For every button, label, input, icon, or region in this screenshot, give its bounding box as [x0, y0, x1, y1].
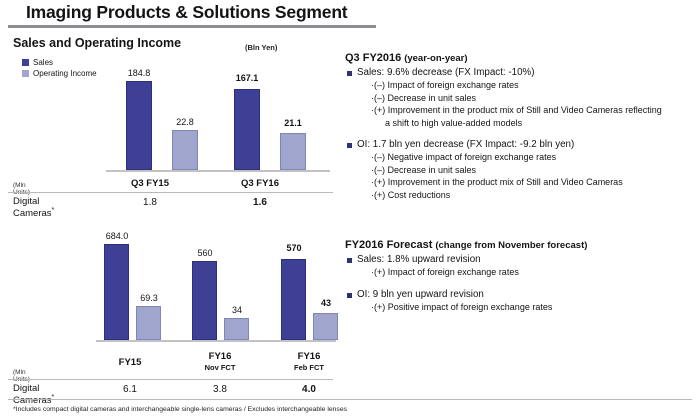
- legend-label-sales: Sales: [33, 58, 53, 67]
- commentary-forecast-sales-text: Sales: 1.8% upward revision: [357, 254, 481, 266]
- commentary-q3-oi-sub-0: ·(–) Negative impact of foreign exchange…: [371, 152, 695, 164]
- spacer: [345, 130, 695, 139]
- table2-row-label: Digital Cameras*: [13, 383, 54, 406]
- chart1-bar-sales-q3fy16: [234, 89, 260, 170]
- legend-label-operating-income: Operating Income: [33, 69, 97, 78]
- commentary-q3-oi-sub-2: ·(+) Improvement in the product mix of S…: [371, 177, 695, 189]
- commentary-block-q3: Q3 FY2016 (year-on-year) Sales: 9.6% dec…: [345, 52, 695, 201]
- commentary-q3-oi-sub-3: ·(+) Cost reductions: [371, 190, 695, 202]
- chart1-bar-oi-q3fy16: [280, 133, 306, 170]
- footnote-divider: [8, 399, 692, 400]
- legend-swatch-sales: [22, 59, 29, 66]
- table2-divider: [8, 379, 333, 380]
- table1-col-header-1: Q3 FY16: [215, 178, 305, 189]
- chart2-category-label-fy16nov-main: FY16: [209, 351, 232, 362]
- commentary-q3-sales-sub-2-cont: a shift to high value-added models: [385, 118, 695, 130]
- table2-value-2: 4.0: [274, 384, 344, 395]
- chart2-category-label-fy16feb: FY16Feb FCT: [274, 351, 344, 373]
- table1-row-label-text: Digital Cameras: [13, 196, 52, 219]
- chart1-value-sales-q3fy16: 167.1: [222, 73, 272, 83]
- table2-value-1: 3.8: [185, 384, 255, 395]
- chart2-category-label-fy16feb-main: FY16: [298, 351, 321, 362]
- commentary-q3-oi-item: OI: 1.7 bln yen decrease (FX Impact: -9.…: [345, 139, 695, 151]
- chart2-value-sales-fy16nov: 560: [180, 248, 230, 258]
- chart2-category-label-fy15-main: FY15: [119, 357, 142, 368]
- chart1-baseline: [106, 170, 330, 172]
- section-heading: Sales and Operating Income: [13, 36, 181, 50]
- table1-row-label-sup: *: [52, 207, 55, 214]
- table1-unit-label: (Mln Units): [13, 182, 30, 196]
- chart2-baseline: [96, 340, 336, 342]
- chart2-category-label-fy16feb-sub: Feb FCT: [274, 362, 344, 373]
- commentary-q3-sales-sub-2: ·(+) Improvement in the product mix of S…: [371, 105, 695, 117]
- commentary-forecast-sales-item: Sales: 1.8% upward revision: [345, 254, 695, 266]
- bullet-square-icon: [347, 258, 352, 263]
- commentary-q3-sales-sub-0: ·(–) Impact of foreign exchange rates: [371, 80, 695, 92]
- commentary-block-q3-title: Q3 FY2016 (year-on-year): [345, 52, 695, 64]
- chart1-bar-sales-q3fy15: [126, 81, 152, 170]
- commentary-q3-oi-sub-1: ·(–) Decrease in unit sales: [371, 165, 695, 177]
- chart2-category-label-fy16nov: FY16Nov FCT: [185, 351, 255, 373]
- commentary-forecast-oi-sub-0: ·(+) Positive impact of foreign exchange…: [371, 302, 695, 314]
- commentary-forecast-oi-text: OI: 9 bln yen upward revision: [357, 289, 484, 301]
- bullet-square-icon: [347, 71, 352, 76]
- table2-unit-label: (Mln Units): [13, 369, 30, 383]
- commentary-block-forecast: FY2016 Forecast (change from November fo…: [345, 239, 695, 313]
- chart1-value-oi-q3fy15: 22.8: [160, 117, 210, 127]
- table2-row-label-text: Digital Cameras: [13, 383, 52, 406]
- commentary-block-forecast-title: FY2016 Forecast (change from November fo…: [345, 239, 695, 251]
- commentary-block-forecast-title-main: FY2016 Forecast: [345, 239, 432, 251]
- chart2-category-label-fy16nov-sub: Nov FCT: [185, 362, 255, 373]
- chart2-value-oi-fy16nov: 34: [212, 305, 262, 315]
- commentary-q3-oi-text: OI: 1.7 bln yen decrease (FX Impact: -9.…: [357, 139, 574, 151]
- chart1-value-sales-q3fy15: 184.8: [114, 68, 164, 78]
- commentary-forecast-oi-item: OI: 9 bln yen upward revision: [345, 289, 695, 301]
- commentary-panel: Q3 FY2016 (year-on-year) Sales: 9.6% dec…: [345, 52, 695, 314]
- footnote: *Includes compact digital cameras and in…: [13, 406, 347, 413]
- table1-value-1: 1.6: [215, 197, 305, 208]
- legend-item-operating-income: Operating Income: [22, 68, 97, 79]
- table1-divider: [8, 192, 333, 193]
- title-divider: [8, 25, 376, 28]
- commentary-q3-sales-sub-1: ·(–) Decrease in unit sales: [371, 93, 695, 105]
- commentary-q3-sales-item: Sales: 9.6% decrease (FX Impact: -10%): [345, 67, 695, 79]
- chart2-value-sales-fy16feb: 570: [269, 243, 319, 253]
- commentary-forecast-sales-sub-0: ·(+) Impact of foreign exchange rates: [371, 267, 695, 279]
- table1-value-0: 1.8: [105, 197, 195, 208]
- commentary-q3-sales-text: Sales: 9.6% decrease (FX Impact: -10%): [357, 67, 535, 79]
- chart1-unit-label: (Bln Yen): [245, 43, 277, 52]
- chart2-category-label-fy15: FY15: [95, 357, 165, 368]
- chart2-bar-oi-fy15: [136, 306, 161, 340]
- spacer: [345, 280, 695, 289]
- slide: Imaging Products & Solutions Segment Sal…: [0, 0, 700, 420]
- chart1-bar-oi-q3fy15: [172, 130, 198, 170]
- chart2-value-oi-fy16feb: 43: [301, 298, 351, 308]
- table1-row-label: Digital Cameras*: [13, 196, 54, 219]
- chart2-bar-sales-fy16nov: [192, 261, 217, 340]
- page-title: Imaging Products & Solutions Segment: [26, 2, 347, 23]
- chart2-value-sales-fy15: 684.0: [92, 231, 142, 241]
- legend-item-sales: Sales: [22, 57, 97, 68]
- chart2-bar-sales-fy15: [104, 244, 129, 340]
- commentary-block-q3-title-paren: (year-on-year): [404, 53, 467, 64]
- table1-col-header-0: Q3 FY15: [105, 178, 195, 189]
- chart1-value-oi-q3fy16: 21.1: [268, 118, 318, 128]
- legend-swatch-operating-income: [22, 70, 29, 77]
- bullet-square-icon: [347, 143, 352, 148]
- commentary-block-q3-title-main: Q3 FY2016: [345, 52, 401, 64]
- chart2-value-oi-fy15: 69.3: [124, 293, 174, 303]
- chart-legend: Sales Operating Income: [22, 57, 97, 79]
- chart2-bar-oi-fy16nov: [224, 318, 249, 340]
- chart2-bar-oi-fy16feb: [313, 313, 338, 340]
- bullet-square-icon: [347, 293, 352, 298]
- table2-value-0: 6.1: [95, 384, 165, 395]
- commentary-block-forecast-title-paren: (change from November forecast): [435, 240, 587, 251]
